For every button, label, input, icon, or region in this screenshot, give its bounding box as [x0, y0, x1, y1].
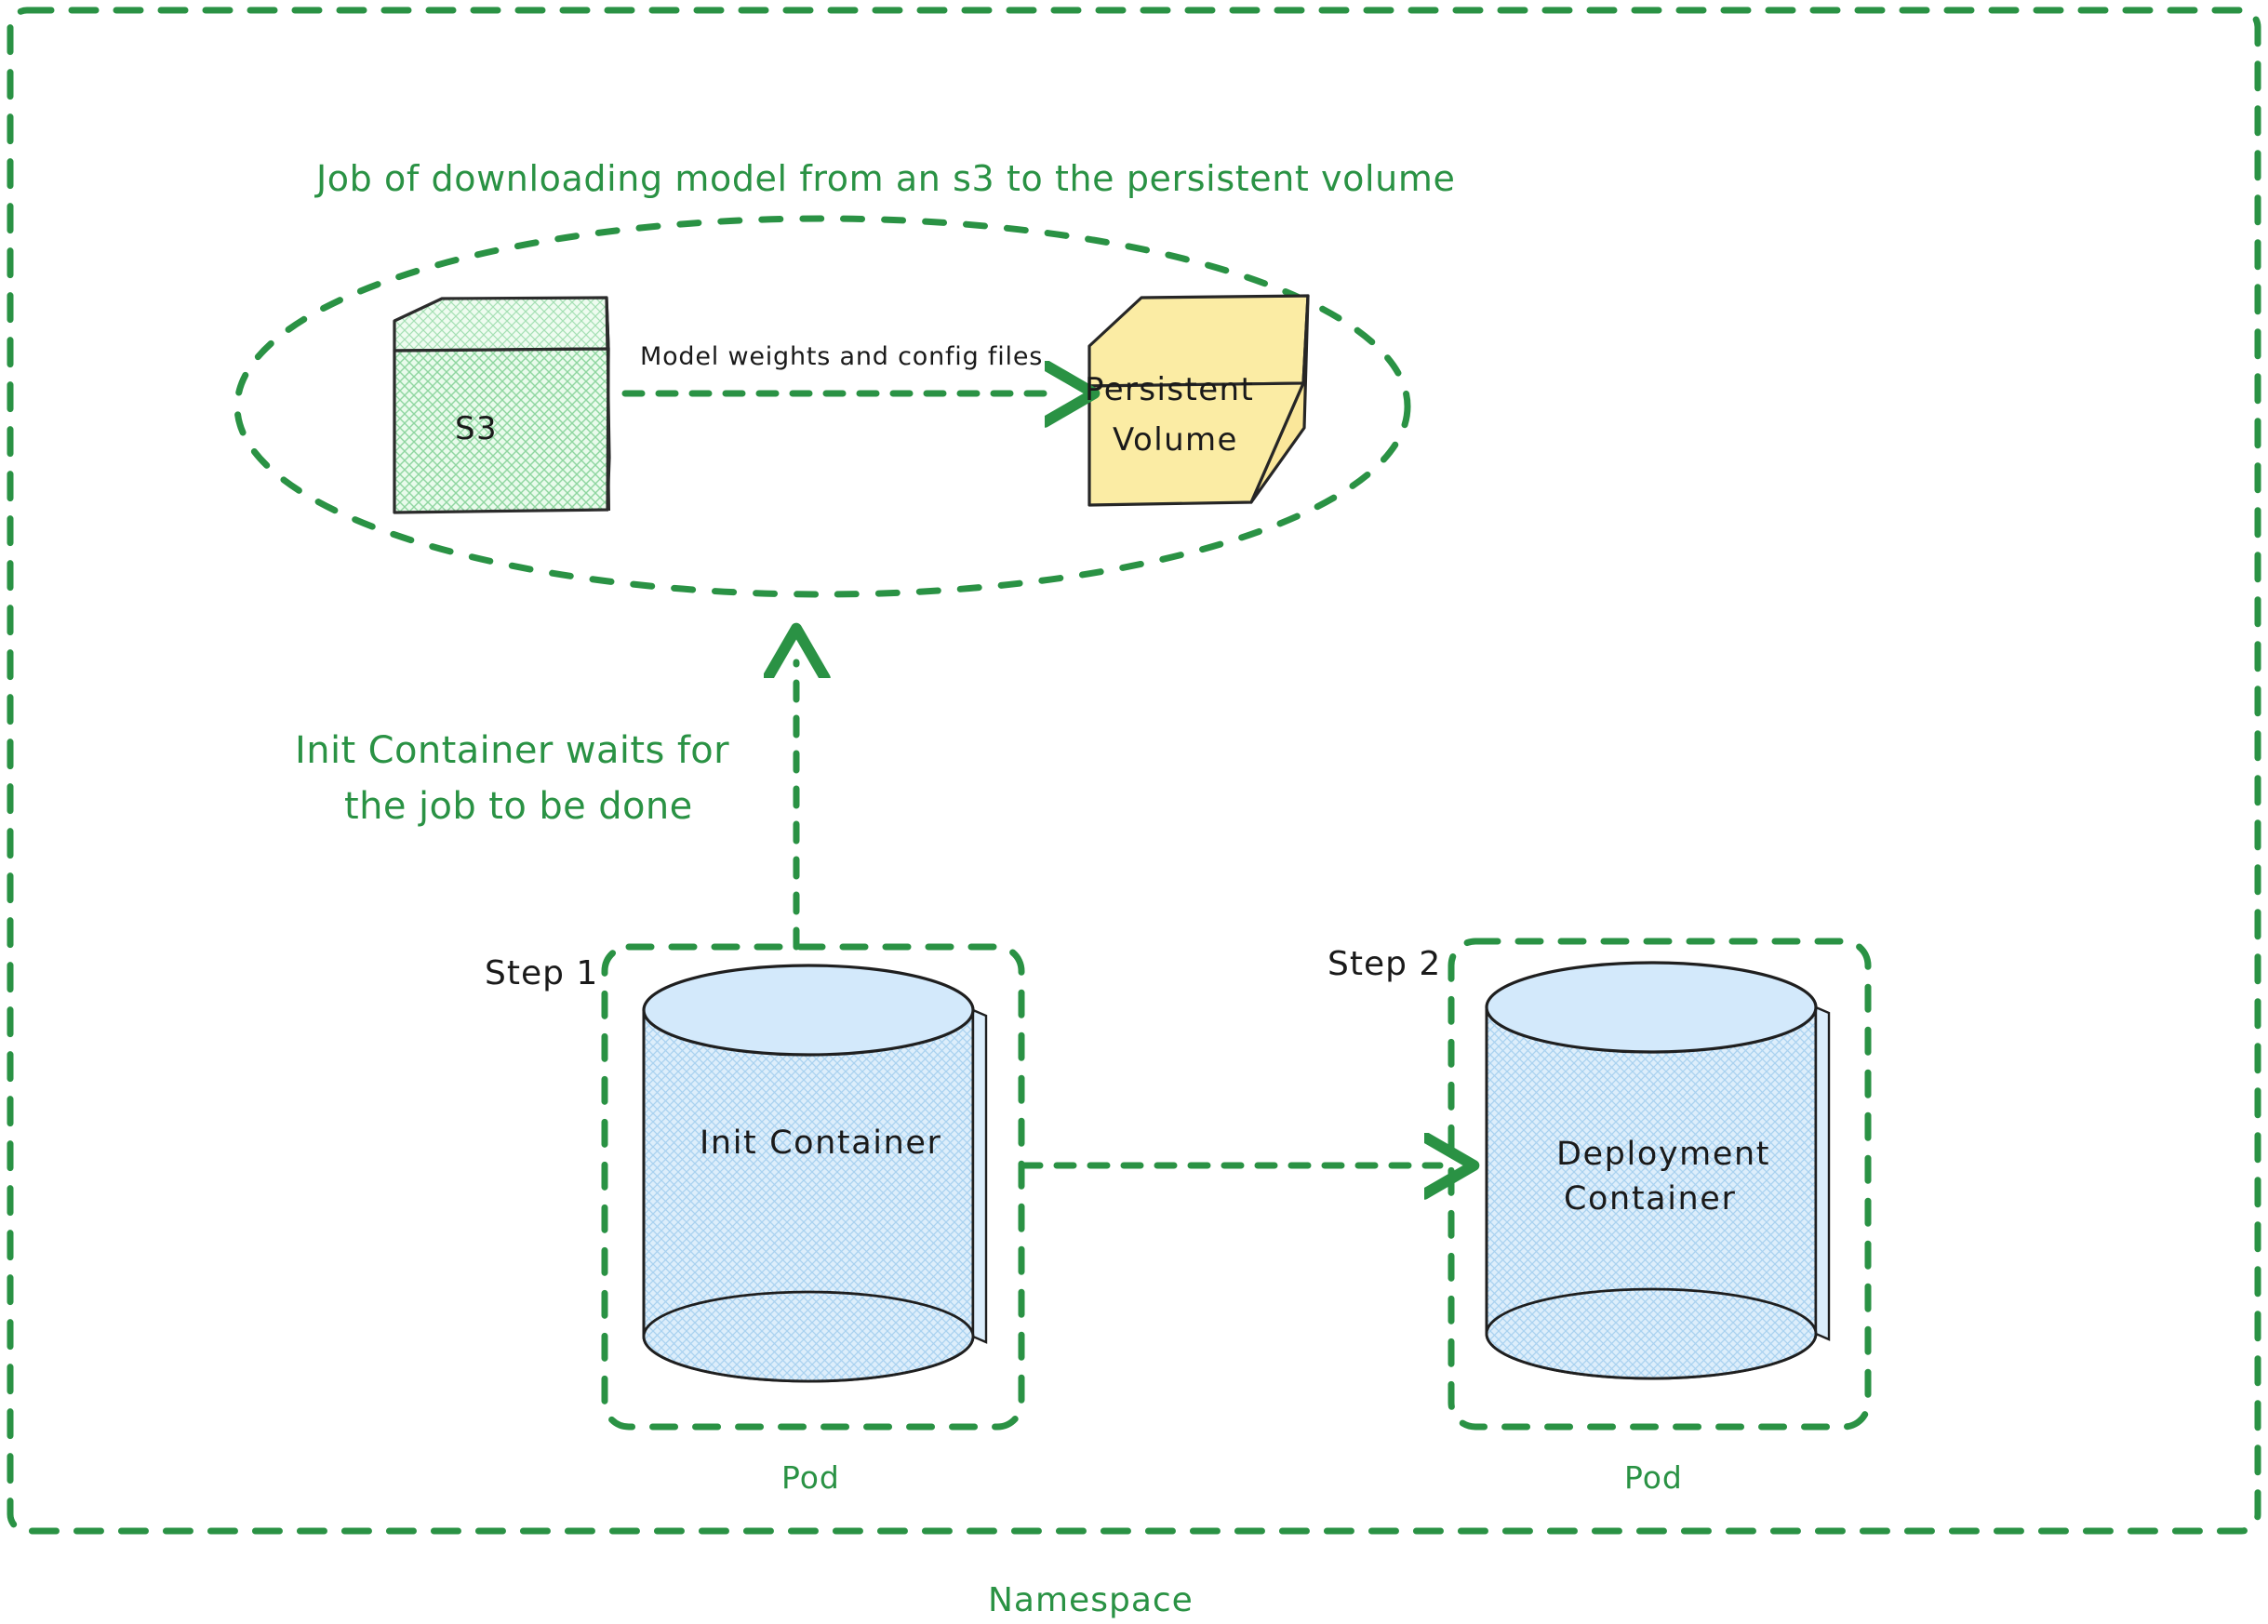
pod-1-step-label: Step 1	[485, 954, 598, 992]
init-container-label: Init Container	[700, 1125, 942, 1162]
pod-2-label: Pod	[1624, 1459, 1683, 1496]
s3-cube-label: S3	[455, 410, 498, 447]
architecture-diagram: Job of downloading model from an s3 to t…	[0, 0, 2268, 1624]
namespace-label: Namespace	[988, 1581, 1194, 1619]
edge-model-weights-label: Model weights and config files	[640, 342, 1043, 371]
deployment-container-label-line2: Container	[1564, 1180, 1736, 1218]
pod-1-label: Pod	[781, 1459, 840, 1496]
wait-edge-label-line2: the job to be done	[344, 785, 693, 828]
diagram-canvas: Job of downloading model from an s3 to t…	[0, 0, 2268, 1624]
s3-cube	[394, 298, 609, 512]
pod-2-step-label: Step 2	[1327, 945, 1441, 983]
persistent-volume-label-line1: Persistent	[1085, 371, 1254, 408]
deployment-container-label-line1: Deployment	[1556, 1136, 1770, 1173]
diagram-title: Job of downloading model from an s3 to t…	[314, 158, 1455, 199]
persistent-volume-label-line2: Volume	[1113, 421, 1238, 459]
init-container-cylinder	[644, 965, 986, 1381]
wait-edge-label-line1: Init Container waits for	[295, 729, 729, 772]
